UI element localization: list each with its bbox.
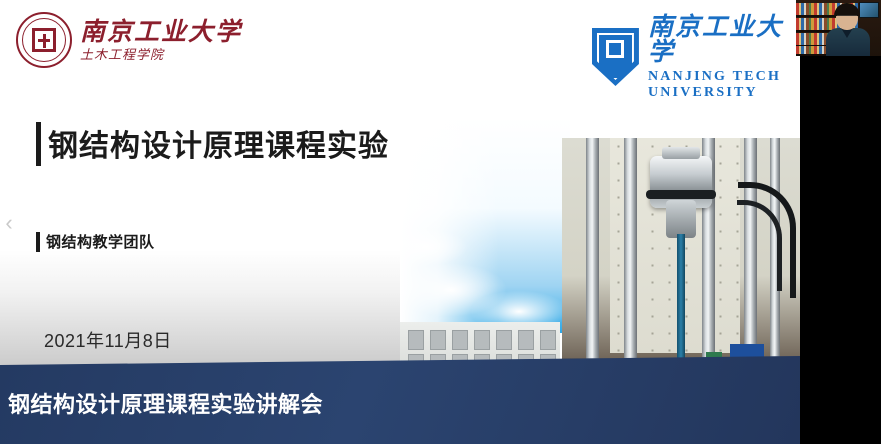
logo-left-department: 土木工程学院 <box>80 49 242 62</box>
presentation-slide[interactable]: 南京工业大学 土木工程学院 南京工业大学 NANJING TECH UNIVER… <box>0 0 800 444</box>
actuator-band <box>646 190 716 199</box>
title-accent-bar <box>36 122 41 166</box>
letterbox-fill <box>800 56 881 444</box>
specimen-grip <box>666 200 696 238</box>
subtitle-accent-bar <box>36 232 40 252</box>
background-monitor <box>859 2 879 18</box>
university-shield-icon <box>592 28 639 86</box>
logo-right-cn-name: 南京工业大学 <box>648 14 800 64</box>
banner-title-text: 钢结构设计原理课程实验讲解会 <box>8 387 323 419</box>
civil-engineering-college-logo: 南京工业大学 土木工程学院 <box>16 12 242 68</box>
previous-slide-chevron-icon[interactable]: ‹ <box>1 210 17 236</box>
nanjing-tech-university-logo: 南京工业大学 NANJING TECH UNIVERSITY <box>592 14 800 100</box>
participant-glasses-icon <box>837 15 857 21</box>
sky-clouds-photo <box>400 118 570 333</box>
logo-left-cn-name: 南京工业大学 <box>80 19 242 44</box>
meeting-screen-share-view: 南京工业大学 土木工程学院 南京工业大学 NANJING TECH UNIVER… <box>0 0 881 444</box>
logo-right-en-line2: UNIVERSITY <box>648 86 800 100</box>
slide-date: 2021年11月8日 <box>44 327 172 353</box>
university-seal-icon <box>16 12 72 68</box>
slide-title: 钢结构设计原理课程实验 <box>48 121 389 165</box>
participant-video-tile[interactable] <box>796 0 881 56</box>
slide-subtitle: 钢结构教学团队 <box>46 231 155 252</box>
logo-right-en-line1: NANJING TECH <box>648 70 800 84</box>
